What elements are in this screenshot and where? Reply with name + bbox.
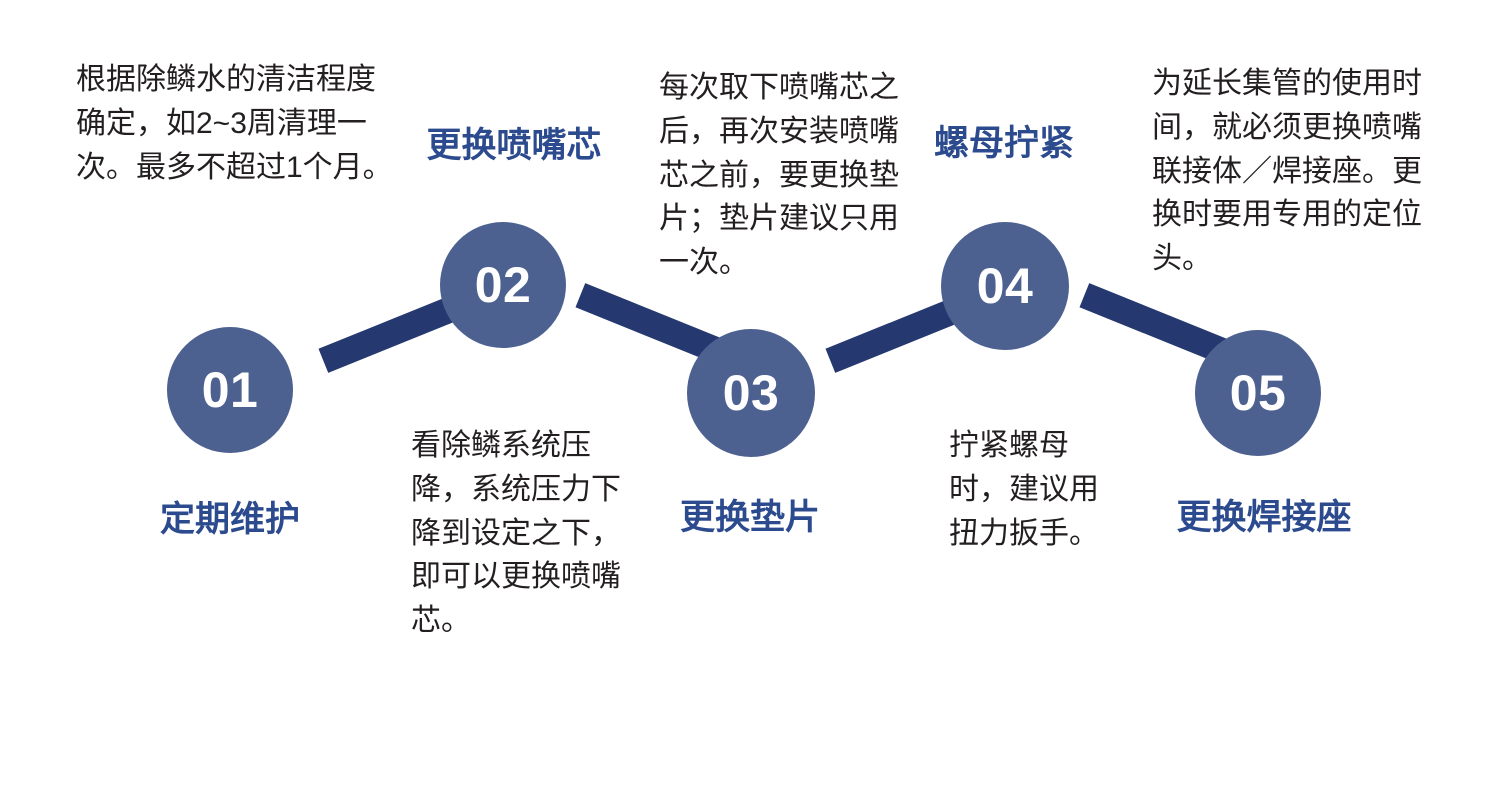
- step-heading-02: 更换喷嘴芯: [383, 126, 645, 166]
- step-number-03: 03: [723, 368, 780, 418]
- step-number-04: 04: [977, 261, 1034, 311]
- step-description-02: 看除鳞系统压降，系统压力下降到设定之下，即可以更换喷嘴芯。: [411, 424, 627, 643]
- step-heading-01: 定期维护: [105, 500, 355, 540]
- step-number-02: 02: [475, 260, 532, 310]
- step-heading-05: 更换焊接座: [1133, 498, 1395, 538]
- step-heading-04: 螺母拧紧: [900, 124, 1108, 164]
- step-description-05: 为延长集管的使用时间，就必须更换喷嘴联接体／焊接座。更换时要用专用的定位头。: [1152, 62, 1432, 281]
- step-number-01: 01: [202, 365, 259, 415]
- step-number-05: 05: [1230, 368, 1287, 418]
- step-circle-04[interactable]: 04: [941, 222, 1069, 350]
- step-circle-01[interactable]: 01: [167, 327, 293, 453]
- step-description-04: 拧紧螺母时，建议用扭力扳手。: [949, 424, 1099, 555]
- step-description-03: 每次取下喷嘴芯之后，再次安装喷嘴芯之前，要更换垫片；垫片建议只用一次。: [659, 66, 903, 285]
- infographic-canvas: 根据除鳞水的清洁程度确定，如2~3周清理一次。最多不超过1个月。 01 定期维护…: [0, 0, 1501, 807]
- step-description-01: 根据除鳞水的清洁程度确定，如2~3周清理一次。最多不超过1个月。: [76, 58, 396, 189]
- step-circle-05[interactable]: 05: [1195, 330, 1321, 456]
- step-circle-03[interactable]: 03: [687, 329, 815, 457]
- step-heading-03: 更换垫片: [625, 498, 875, 538]
- step-circle-02[interactable]: 02: [440, 222, 566, 348]
